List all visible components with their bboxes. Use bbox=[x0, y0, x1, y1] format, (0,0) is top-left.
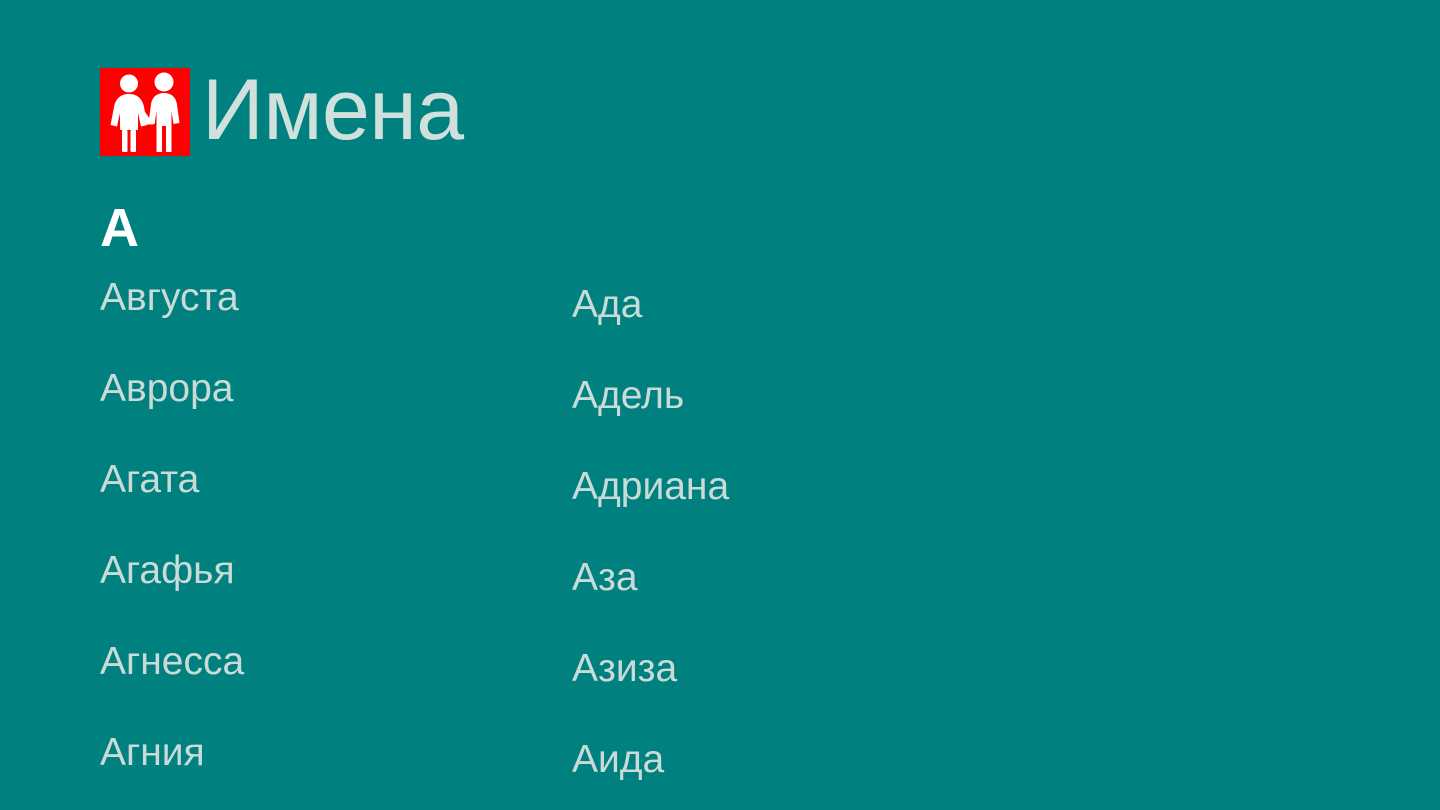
page-root: Имена А Августа Аврора Агата Агафья Агне… bbox=[0, 0, 1440, 810]
names-column-1: Августа Аврора Агата Агафья Агнесса Агни… bbox=[100, 276, 572, 810]
app-brand-header[interactable]: Имена bbox=[100, 62, 464, 162]
names-grid: Августа Аврора Агата Агафья Агнесса Агни… bbox=[100, 276, 1380, 810]
names-column-2: Ада Адель Адриана Аза Азиза Аида bbox=[572, 276, 1044, 810]
name-link[interactable]: Агафья bbox=[100, 549, 572, 640]
name-link[interactable]: Агата bbox=[100, 458, 572, 549]
name-link[interactable]: Агния bbox=[100, 731, 572, 810]
name-link[interactable]: Адель bbox=[572, 374, 1044, 465]
name-link[interactable]: Аида bbox=[572, 738, 1044, 810]
name-link[interactable]: Азиза bbox=[572, 647, 1044, 738]
name-link[interactable]: Августа bbox=[100, 276, 572, 367]
name-link[interactable]: Ада bbox=[572, 283, 1044, 374]
letter-group-heading: А bbox=[100, 200, 139, 256]
couple-man-woman-icon bbox=[100, 68, 190, 156]
name-link[interactable]: Аврора bbox=[100, 367, 572, 458]
name-link[interactable]: Агнесса bbox=[100, 640, 572, 731]
page-title: Имена bbox=[202, 66, 464, 154]
name-link[interactable]: Аза bbox=[572, 556, 1044, 647]
name-link[interactable]: Адриана bbox=[572, 465, 1044, 556]
